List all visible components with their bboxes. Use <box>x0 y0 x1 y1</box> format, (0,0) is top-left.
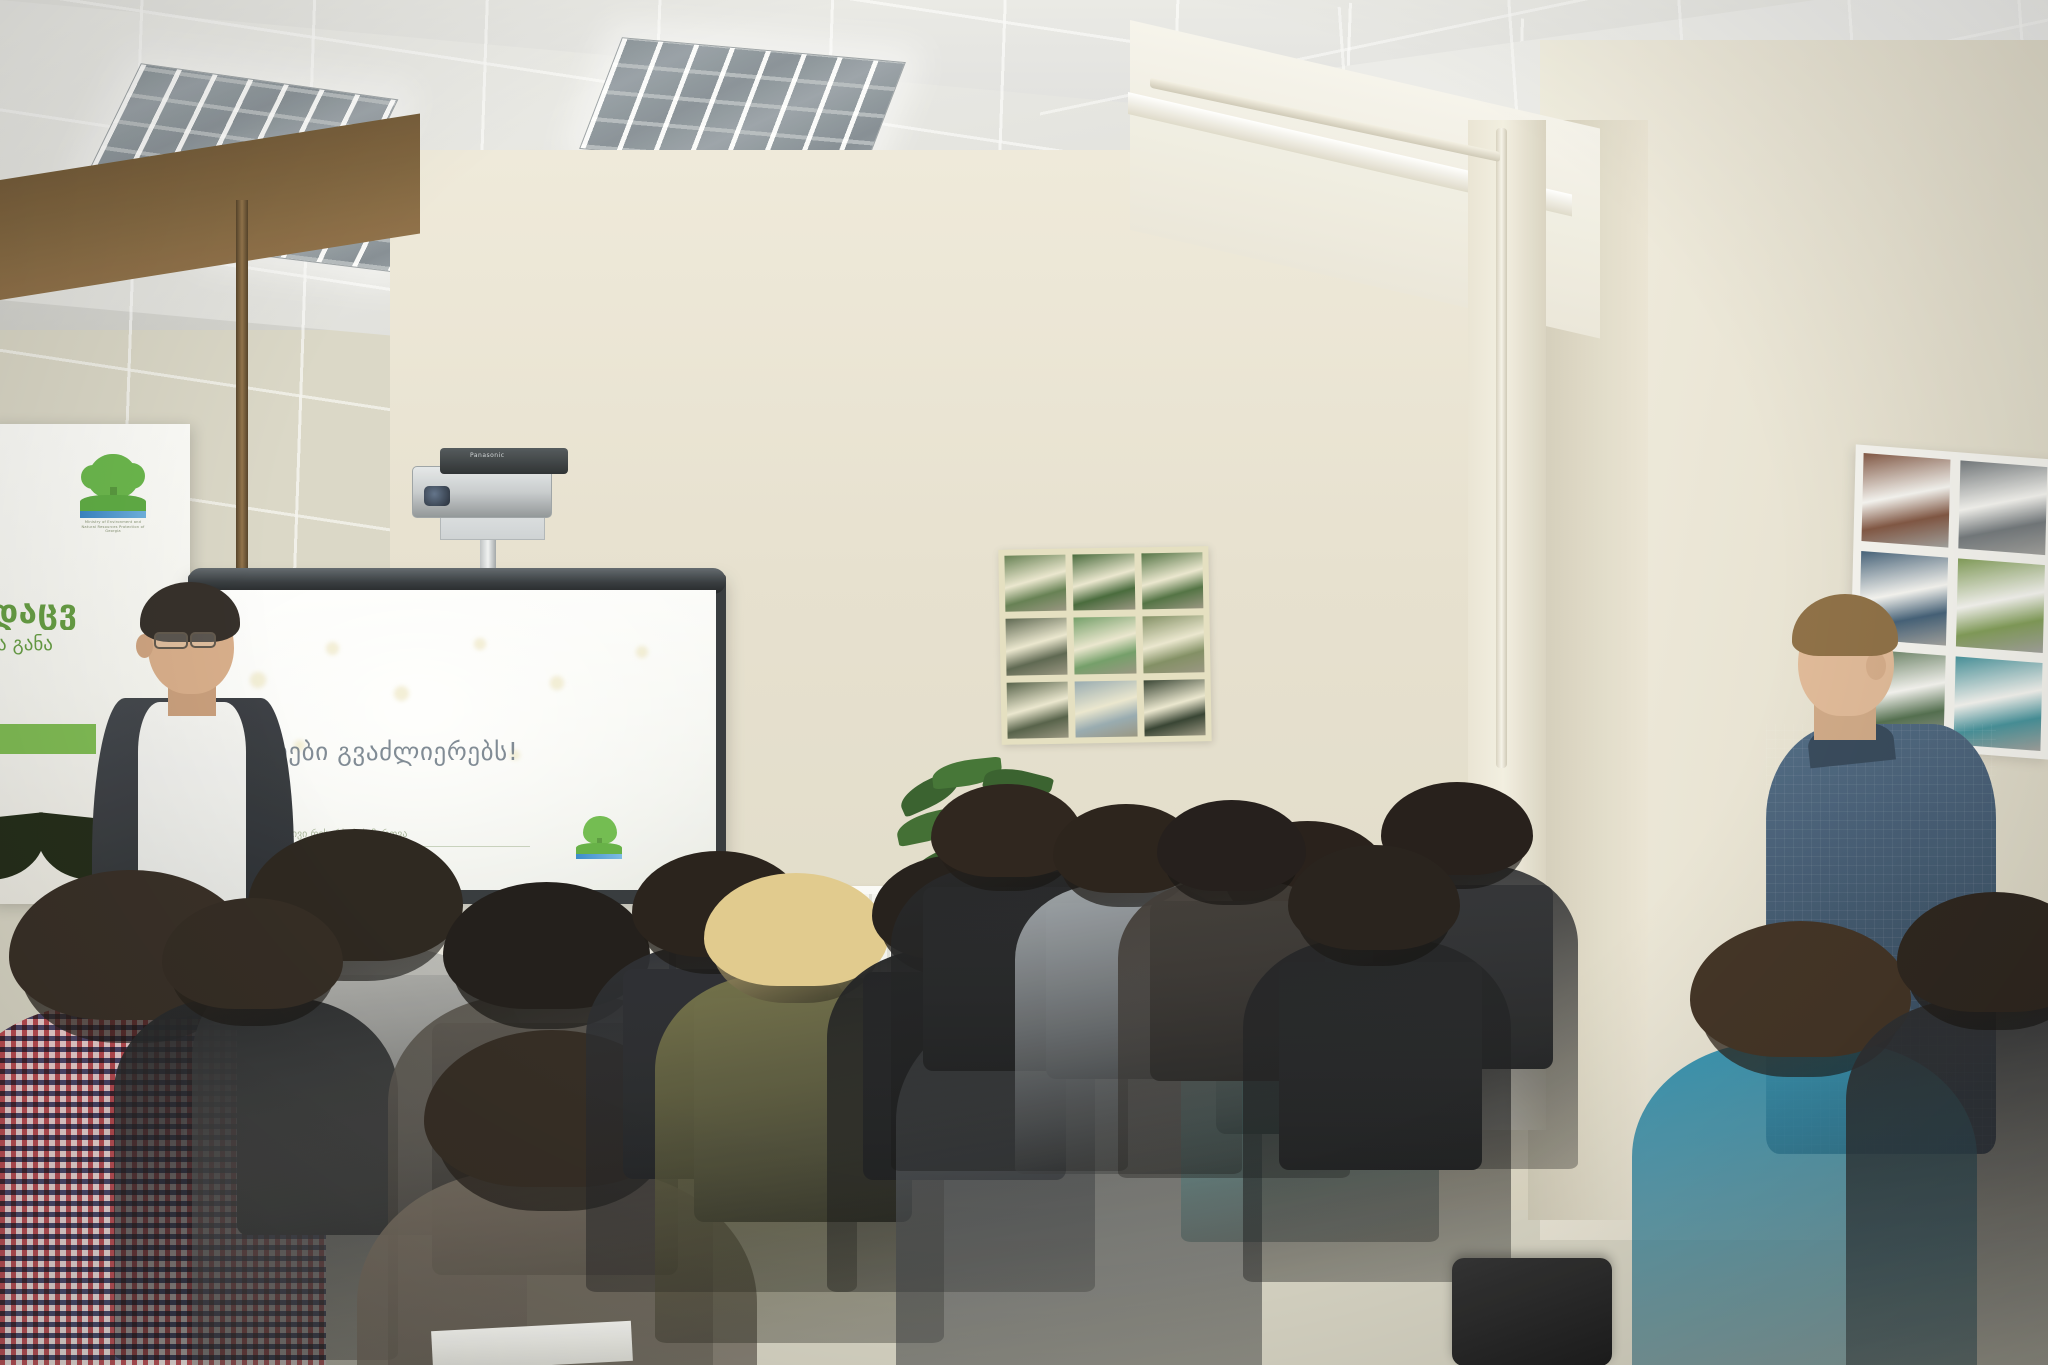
attendee-hair <box>1897 892 2048 1011</box>
attendee-torso <box>1243 939 1511 1282</box>
attendee-torso <box>1846 999 2048 1365</box>
attendee-hair <box>704 873 889 986</box>
attendee-far-right-edge <box>1906 900 2048 1365</box>
attendee-dark-hair-right-front <box>1296 852 1530 1268</box>
attendee-hair <box>162 898 344 1009</box>
audience-group <box>0 0 2048 1365</box>
handbag[interactable] <box>1452 1258 1612 1365</box>
photo-scene: Ministry of Environment and Natural Reso… <box>0 0 2048 1365</box>
attendee-torso <box>114 997 398 1360</box>
attendee-hair <box>1157 800 1306 891</box>
attendee-hair <box>1288 845 1460 950</box>
